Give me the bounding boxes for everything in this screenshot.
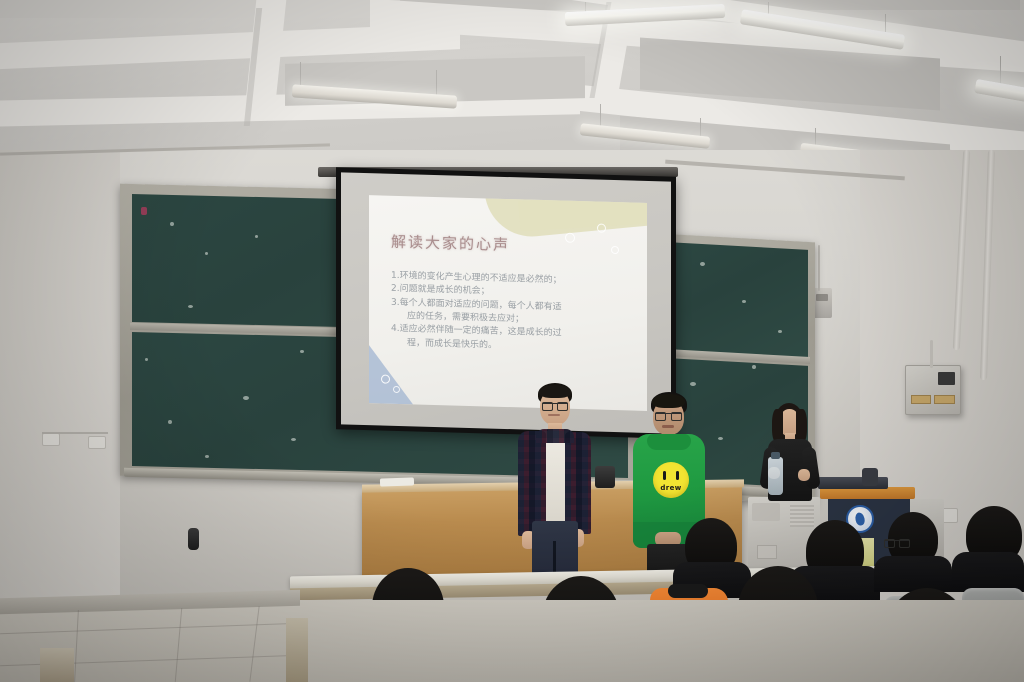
slide-title: 解读大家的心声 bbox=[391, 231, 510, 255]
slide-body: 1.环境的变化产生心理的不适应是必然的； 2.问题就是成长的机会； 3.每个人都… bbox=[391, 270, 562, 355]
hair-top bbox=[539, 385, 571, 398]
ceiling bbox=[0, 0, 1024, 170]
slide-circle-decoration bbox=[393, 386, 400, 393]
cabinet-drawer bbox=[757, 545, 777, 559]
glasses-icon bbox=[655, 413, 682, 417]
floor-object bbox=[188, 528, 199, 550]
lamp-hanger bbox=[436, 70, 437, 96]
bottle-cap bbox=[771, 452, 780, 459]
plaid-shirt-collar bbox=[536, 429, 574, 443]
hair-side bbox=[772, 409, 783, 443]
floor bbox=[0, 600, 1024, 682]
slide-circle-decoration bbox=[611, 246, 619, 254]
slide-circle-decoration bbox=[381, 375, 390, 384]
desk-object bbox=[595, 466, 615, 488]
classroom-photo: 解读大家的心声 1.环境的变化产生心理的不适应是必然的； 2.问题就是成长的机会… bbox=[0, 0, 1024, 682]
bag-strap bbox=[668, 584, 708, 598]
projection-screen: 解读大家的心声 1.环境的变化产生心理的不适应是必然的； 2.问题就是成长的机会… bbox=[341, 172, 671, 433]
paper-on-desk bbox=[380, 477, 414, 486]
speaker-grille bbox=[816, 294, 828, 301]
glasses-icon bbox=[884, 540, 910, 544]
glasses-icon bbox=[542, 403, 568, 407]
left-wall bbox=[0, 150, 120, 620]
speaker-wire bbox=[818, 245, 820, 291]
panel-meter-window bbox=[938, 372, 955, 385]
mouth bbox=[548, 414, 560, 416]
slide-circle-decoration bbox=[597, 224, 606, 233]
podium-equipment bbox=[862, 468, 878, 486]
smiley-logo: drew bbox=[653, 462, 689, 498]
panel-conduit bbox=[930, 340, 933, 368]
presenter-plaid-shirt bbox=[508, 383, 594, 588]
presentation-slide: 解读大家的心声 1.环境的变化产生心理的不适应是必然的； 2.问题就是成长的机会… bbox=[369, 195, 647, 411]
light-switch[interactable] bbox=[42, 433, 60, 446]
desk-leg bbox=[40, 648, 74, 682]
blackboard-upper-right bbox=[668, 242, 808, 358]
wall-speaker bbox=[812, 288, 832, 318]
hair-side bbox=[796, 409, 807, 443]
chalk-mark-red bbox=[141, 207, 147, 215]
panel-terminal-strip bbox=[911, 395, 931, 404]
switch-conduit bbox=[42, 432, 108, 434]
desk-leg bbox=[286, 618, 308, 682]
student-body bbox=[952, 552, 1024, 592]
hair-top bbox=[652, 394, 685, 408]
lamp-hanger bbox=[1000, 56, 1001, 86]
slide-circle-decoration bbox=[565, 233, 575, 243]
hood bbox=[647, 434, 691, 450]
hoodie-logo-text: drew bbox=[653, 484, 689, 492]
slide-triangle-decoration bbox=[369, 345, 413, 404]
hand bbox=[798, 469, 810, 481]
light-switch[interactable] bbox=[88, 436, 106, 449]
panel-terminal-strip bbox=[934, 395, 955, 404]
water-bottle[interactable] bbox=[768, 457, 783, 495]
student-body bbox=[874, 556, 952, 592]
mouth bbox=[662, 425, 674, 428]
plaid-shirt-right bbox=[565, 432, 591, 534]
